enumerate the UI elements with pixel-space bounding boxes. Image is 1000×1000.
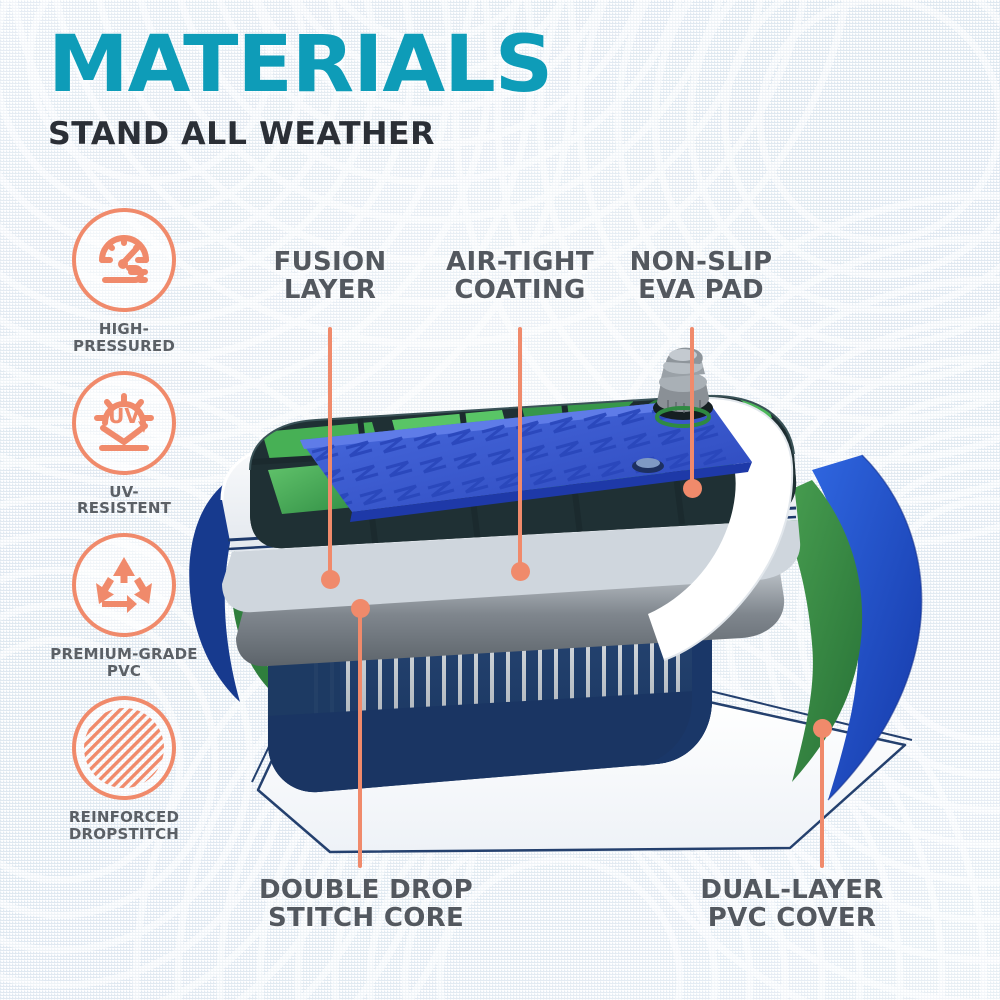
leader-line-fusion-layer — [328, 327, 332, 579]
callout-label: NON-SLIP EVA PAD — [606, 248, 796, 304]
leader-line-non-slip-eva-pad — [690, 327, 694, 487]
callout-fusion-layer: FUSION LAYER — [250, 248, 410, 304]
callout-double-drop-stitch-core: DOUBLE DROP STITCH CORE — [258, 876, 474, 932]
leader-dot-dual-layer-pvc-cover — [813, 719, 832, 738]
exploded-board-illustration — [0, 0, 1000, 1000]
callout-label: DOUBLE DROP STITCH CORE — [258, 876, 474, 932]
callout-air-tight-coating: AIR-TIGHT COATING — [432, 248, 608, 304]
leader-line-dual-layer-pvc-cover — [820, 736, 824, 868]
leader-line-air-tight-coating — [518, 327, 522, 571]
leader-line-double-drop-stitch-core — [358, 616, 362, 868]
air-valve-icon — [653, 348, 713, 426]
callout-non-slip-eva-pad: NON-SLIP EVA PAD — [606, 248, 796, 304]
callout-label: AIR-TIGHT COATING — [432, 248, 608, 304]
leader-dot-air-tight-coating — [511, 562, 530, 581]
leader-dot-double-drop-stitch-core — [351, 599, 370, 618]
callout-label: DUAL-LAYER PVC COVER — [684, 876, 900, 932]
callout-dual-layer-pvc-cover: DUAL-LAYER PVC COVER — [684, 876, 900, 932]
leader-dot-fusion-layer — [321, 570, 340, 589]
leader-dot-non-slip-eva-pad — [683, 479, 702, 498]
callout-label: FUSION LAYER — [250, 248, 410, 304]
